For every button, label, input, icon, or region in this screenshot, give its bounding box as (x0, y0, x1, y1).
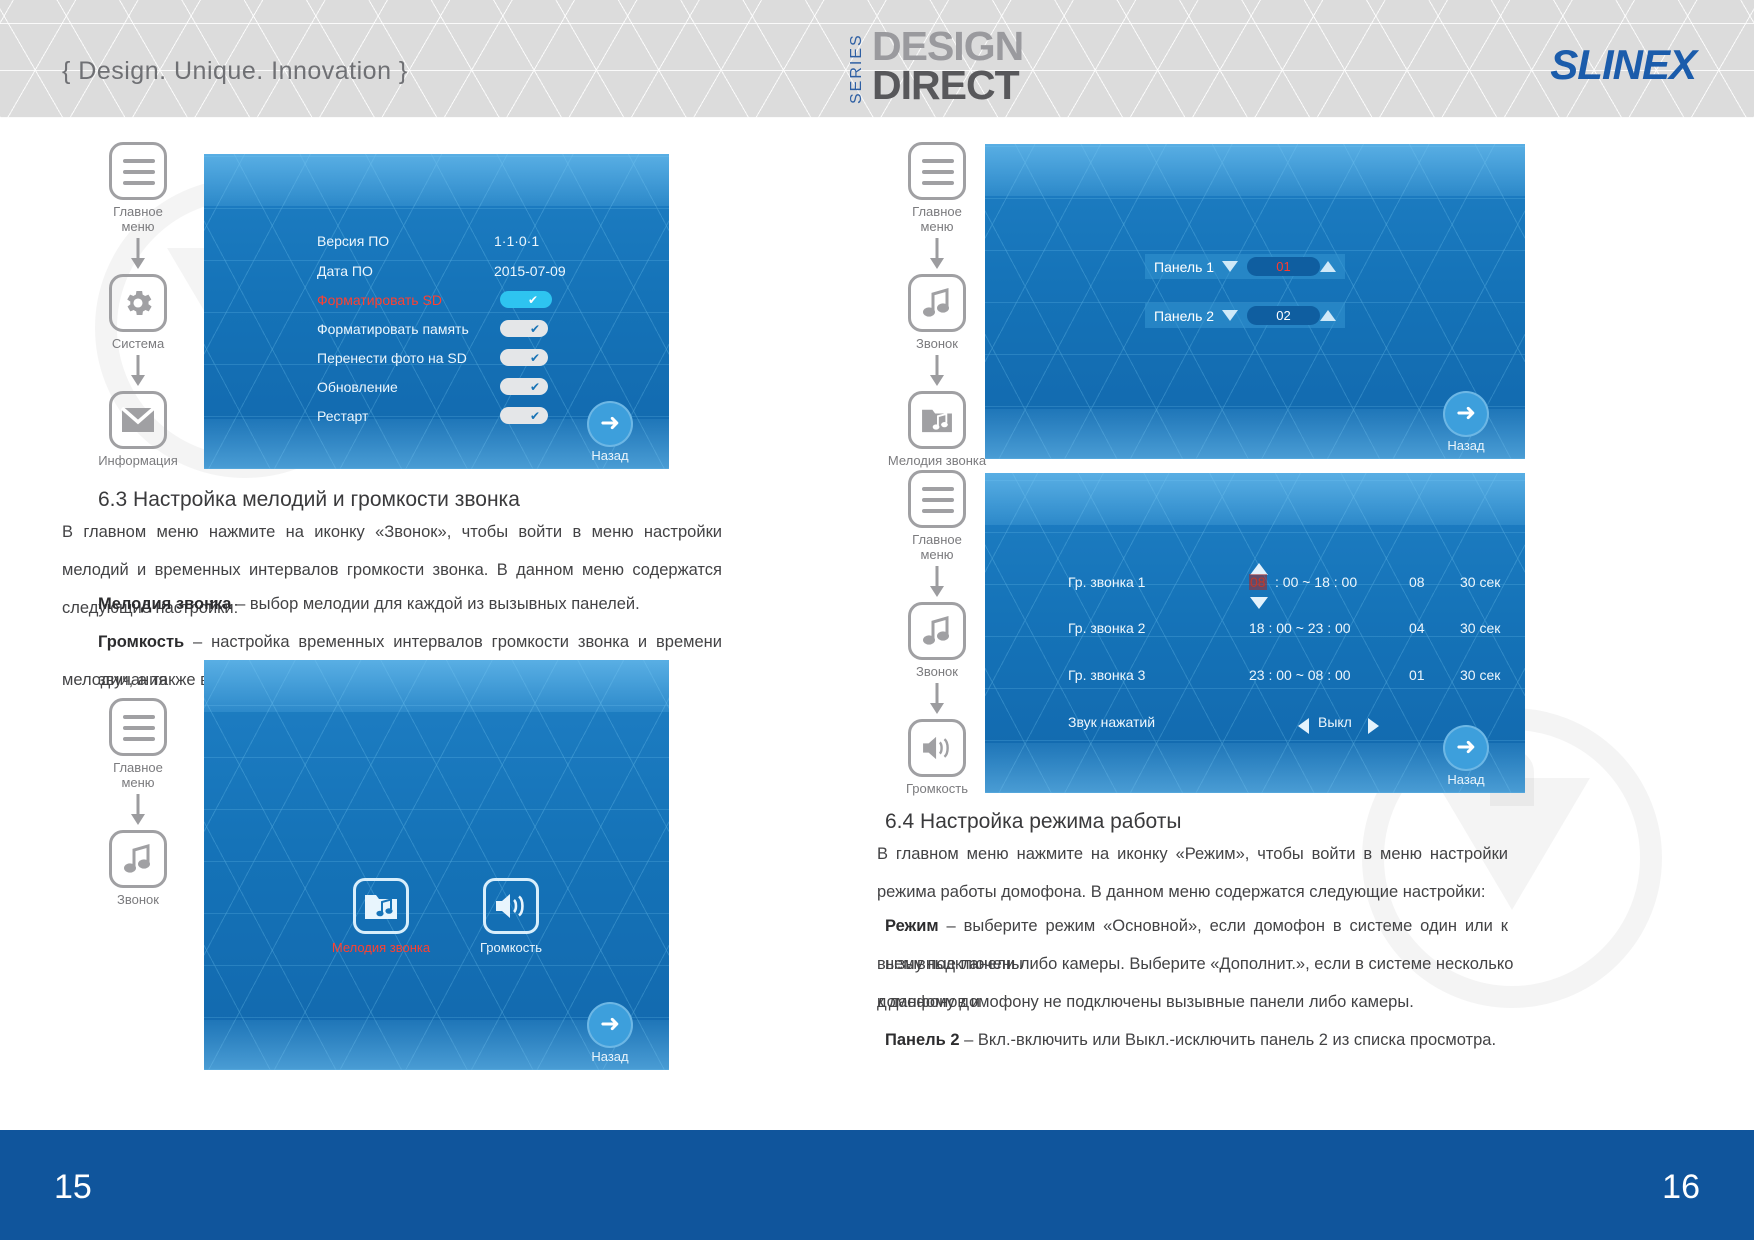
spinner-down-icon[interactable] (1250, 597, 1268, 609)
schedule-1-hour-value: 08 (1249, 574, 1267, 590)
flow-label-line2: меню (121, 775, 154, 790)
schedule-1-time: : 00 ~ 18 : 00 (1275, 574, 1357, 590)
device-screen-volume-schedule: Гр. звонка 1 08 : 00 ~ 18 : 00 08 30 сек… (985, 473, 1525, 793)
schedule-2-duration[interactable]: 30 сек (1460, 620, 1500, 636)
para-line: домофона. В данном меню содержатся следу… (1001, 883, 1485, 901)
flow-label-line2: меню (920, 219, 953, 234)
page-number-right: 16 (1662, 1168, 1700, 1207)
keytone-label: Звук нажатий (1068, 714, 1155, 730)
keytone-value: Выкл (1318, 714, 1352, 730)
chevron-up-icon[interactable] (1320, 310, 1336, 321)
flow-label-system: Система (78, 336, 198, 351)
melody-folder-icon[interactable] (908, 391, 966, 449)
flow-label-line1: Главное (113, 204, 163, 219)
bullet-term: Режим (885, 917, 939, 935)
flow-label-main-menu: Главное меню (877, 532, 997, 562)
speaker-volume-icon (483, 878, 539, 934)
hamburger-menu-icon[interactable] (109, 698, 167, 756)
device-screen-ringer-menu: Мелодия звонка Громкость Назад (204, 660, 669, 1070)
flow-arrow-icon (78, 353, 198, 389)
back-button[interactable]: Назад (1427, 391, 1505, 453)
device-screen-system-info: Версия ПО 1·1·0·1 Дата ПО 2015-07-09 Фор… (204, 154, 669, 469)
hamburger-menu-icon[interactable] (908, 470, 966, 528)
info-row-label-format-sd[interactable]: Форматировать SD (317, 292, 442, 308)
back-button[interactable]: Назад (571, 401, 649, 463)
bullet-term: Панель 2 (885, 1031, 960, 1049)
toggle-move-photo[interactable] (500, 349, 548, 366)
back-button-label: Назад (571, 448, 649, 463)
tile-volume-label: Громкость (456, 940, 566, 955)
back-button-label: Назад (1427, 772, 1505, 787)
flow-label-ringer: Звонок (877, 664, 997, 679)
flow-nav-right-top: Главное меню Звонок Мелодия звонка (877, 142, 997, 468)
panel-1-selector[interactable]: Панель 1 01 (1145, 254, 1345, 279)
music-note-icon[interactable] (908, 602, 966, 660)
section-6-3-bullet-1: Мелодия звонка – выбор мелодии для каждо… (98, 585, 728, 623)
flow-arrow-icon (78, 236, 198, 272)
info-row-value: 1·1·0·1 (494, 233, 539, 249)
flow-label-volume: Громкость (877, 781, 997, 796)
flow-label-ringer: Звонок (877, 336, 997, 351)
schedule-3-time[interactable]: 23 : 00 ~ 08 : 00 (1249, 667, 1351, 683)
schedule-2-name: Гр. звонка 2 (1068, 620, 1145, 636)
flow-arrow-icon (877, 681, 997, 717)
slinex-logo: SLINEX (1550, 41, 1696, 89)
schedule-1-name: Гр. звонка 1 (1068, 574, 1145, 590)
flow-label-line1: Главное (113, 760, 163, 775)
info-row-label-format-memory[interactable]: Форматировать память (317, 321, 469, 337)
schedule-1-duration[interactable]: 30 сек (1460, 574, 1500, 590)
flow-label-line2: меню (920, 547, 953, 562)
tile-melody-label: Мелодия звонка (326, 940, 436, 955)
flow-nav-right-mid: Главное меню Звонок Громкость (877, 470, 997, 796)
arrow-right-icon[interactable] (1368, 718, 1379, 734)
toggle-format-sd[interactable] (500, 291, 552, 308)
section-6-4-bullet-1-line3: к данному домофону не подключены вызывны… (877, 983, 1517, 1021)
tile-volume[interactable]: Громкость (456, 878, 566, 955)
schedule-2-volume[interactable]: 04 (1409, 620, 1425, 636)
speaker-volume-icon[interactable] (908, 719, 966, 777)
gear-icon[interactable] (109, 274, 167, 332)
info-row-value: 2015-07-09 (494, 263, 566, 279)
bullet-term: Мелодия звонка (98, 595, 231, 613)
music-note-icon[interactable] (908, 274, 966, 332)
back-arrow-icon (587, 1002, 633, 1048)
panel-2-label: Панель 2 (1154, 308, 1214, 324)
flow-arrow-icon (877, 564, 997, 600)
flow-label-main-menu: Главное меню (78, 760, 198, 790)
schedule-2-time[interactable]: 18 : 00 ~ 23 : 00 (1249, 620, 1351, 636)
info-row-label: Версия ПО (317, 233, 389, 249)
info-row-label: Дата ПО (317, 263, 373, 279)
back-arrow-icon (1443, 725, 1489, 771)
chevron-down-icon[interactable] (1222, 261, 1238, 272)
flow-label-melody: Мелодия звонка (877, 453, 997, 468)
flow-arrow-icon (877, 353, 997, 389)
page-header: { Design. Unique. Innovation } SERIES DE… (0, 0, 1754, 118)
section-heading-6-4: 6.4 Настройка режима работы (885, 810, 1181, 834)
back-button[interactable]: Назад (1427, 725, 1505, 787)
chevron-up-icon[interactable] (1320, 261, 1336, 272)
section-6-4-bullet-2: Панель 2 – Вкл.-включить или Выкл.-исклю… (885, 1021, 1515, 1059)
tile-melody[interactable]: Мелодия звонка (326, 878, 436, 955)
arrow-left-icon[interactable] (1298, 718, 1309, 734)
flow-label-line1: Главное (912, 204, 962, 219)
info-row-label-update[interactable]: Обновление (317, 379, 398, 395)
brand-series-label: SERIES (848, 32, 866, 104)
flow-label-main-menu: Главное меню (78, 204, 198, 234)
back-button[interactable]: Назад (571, 1002, 649, 1064)
flow-label-line1: Главное (912, 532, 962, 547)
panel-2-value: 02 (1247, 306, 1320, 325)
hamburger-menu-icon[interactable] (908, 142, 966, 200)
manual-page: { Design. Unique. Innovation } SERIES DE… (0, 0, 1754, 1240)
bullet-text: – выбор мелодии для каждой из вызывных п… (231, 595, 639, 613)
device-screen-panel-melody: Панель 1 01 Панель 2 02 Назад (985, 144, 1525, 459)
mail-envelope-icon[interactable] (109, 391, 167, 449)
right-column: Главное меню Звонок Мелодия звонка (877, 118, 1754, 1128)
flow-label-main-menu: Главное меню (877, 204, 997, 234)
screen-top-band (204, 660, 669, 712)
back-arrow-icon (1443, 391, 1489, 437)
flow-arrow-icon (877, 236, 997, 272)
flow-label-information: Информация (78, 453, 198, 468)
bullet-text: – Вкл.-включить или Выкл.-исключить пане… (960, 1031, 1496, 1049)
panel-1-value: 01 (1247, 257, 1320, 276)
hamburger-menu-icon[interactable] (109, 142, 167, 200)
info-row-label-move-photo[interactable]: Перенести фото на SD (317, 350, 467, 366)
screen-top-band (985, 144, 1525, 196)
toggle-restart[interactable] (500, 407, 548, 424)
panel-2-selector[interactable]: Панель 2 02 (1145, 303, 1345, 328)
screen-top-band (204, 154, 669, 206)
flow-label-line2: меню (121, 219, 154, 234)
screen-top-band (985, 473, 1525, 525)
brand-design-label: DESIGN (872, 27, 1023, 65)
music-note-icon[interactable] (109, 830, 167, 888)
footer-pattern (0, 1130, 1754, 1240)
toggle-format-memory[interactable] (500, 320, 548, 337)
flow-label-ringer: Звонок (78, 892, 198, 907)
chevron-down-icon[interactable] (1222, 310, 1238, 321)
schedule-3-volume[interactable]: 01 (1409, 667, 1425, 683)
bullet-term: Громкость (98, 633, 184, 651)
section-heading-6-3: 6.3 Настройка мелодий и громкости звонка (98, 488, 520, 512)
back-button-label: Назад (571, 1049, 649, 1064)
flow-arrow-icon (78, 792, 198, 828)
toggle-update[interactable] (500, 378, 548, 395)
page-number-left: 15 (54, 1168, 92, 1207)
left-column: Главное меню Система Информация Версия П… (0, 118, 877, 1128)
panel-1-label: Панель 1 (1154, 259, 1214, 275)
melody-folder-icon (353, 878, 409, 934)
info-row-label-restart[interactable]: Рестарт (317, 408, 368, 424)
header-tagline: { Design. Unique. Innovation } (62, 57, 408, 86)
flow-nav-left-top: Главное меню Система Информация (78, 142, 198, 468)
schedule-1-hour-start[interactable]: 08 (1249, 574, 1267, 590)
back-button-label: Назад (1427, 438, 1505, 453)
schedule-3-name: Гр. звонка 3 (1068, 667, 1145, 683)
section-6-4-paragraph: В главном меню нажмите на иконку «Режим»… (877, 835, 1508, 911)
brand-direct-label: DIRECT (872, 66, 1019, 104)
flow-nav-left-bottom: Главное меню Звонок (78, 698, 198, 907)
schedule-3-duration[interactable]: 30 сек (1460, 667, 1500, 683)
back-arrow-icon (587, 401, 633, 447)
schedule-1-volume[interactable]: 08 (1409, 574, 1425, 590)
page-footer: 15 16 (0, 1130, 1754, 1240)
